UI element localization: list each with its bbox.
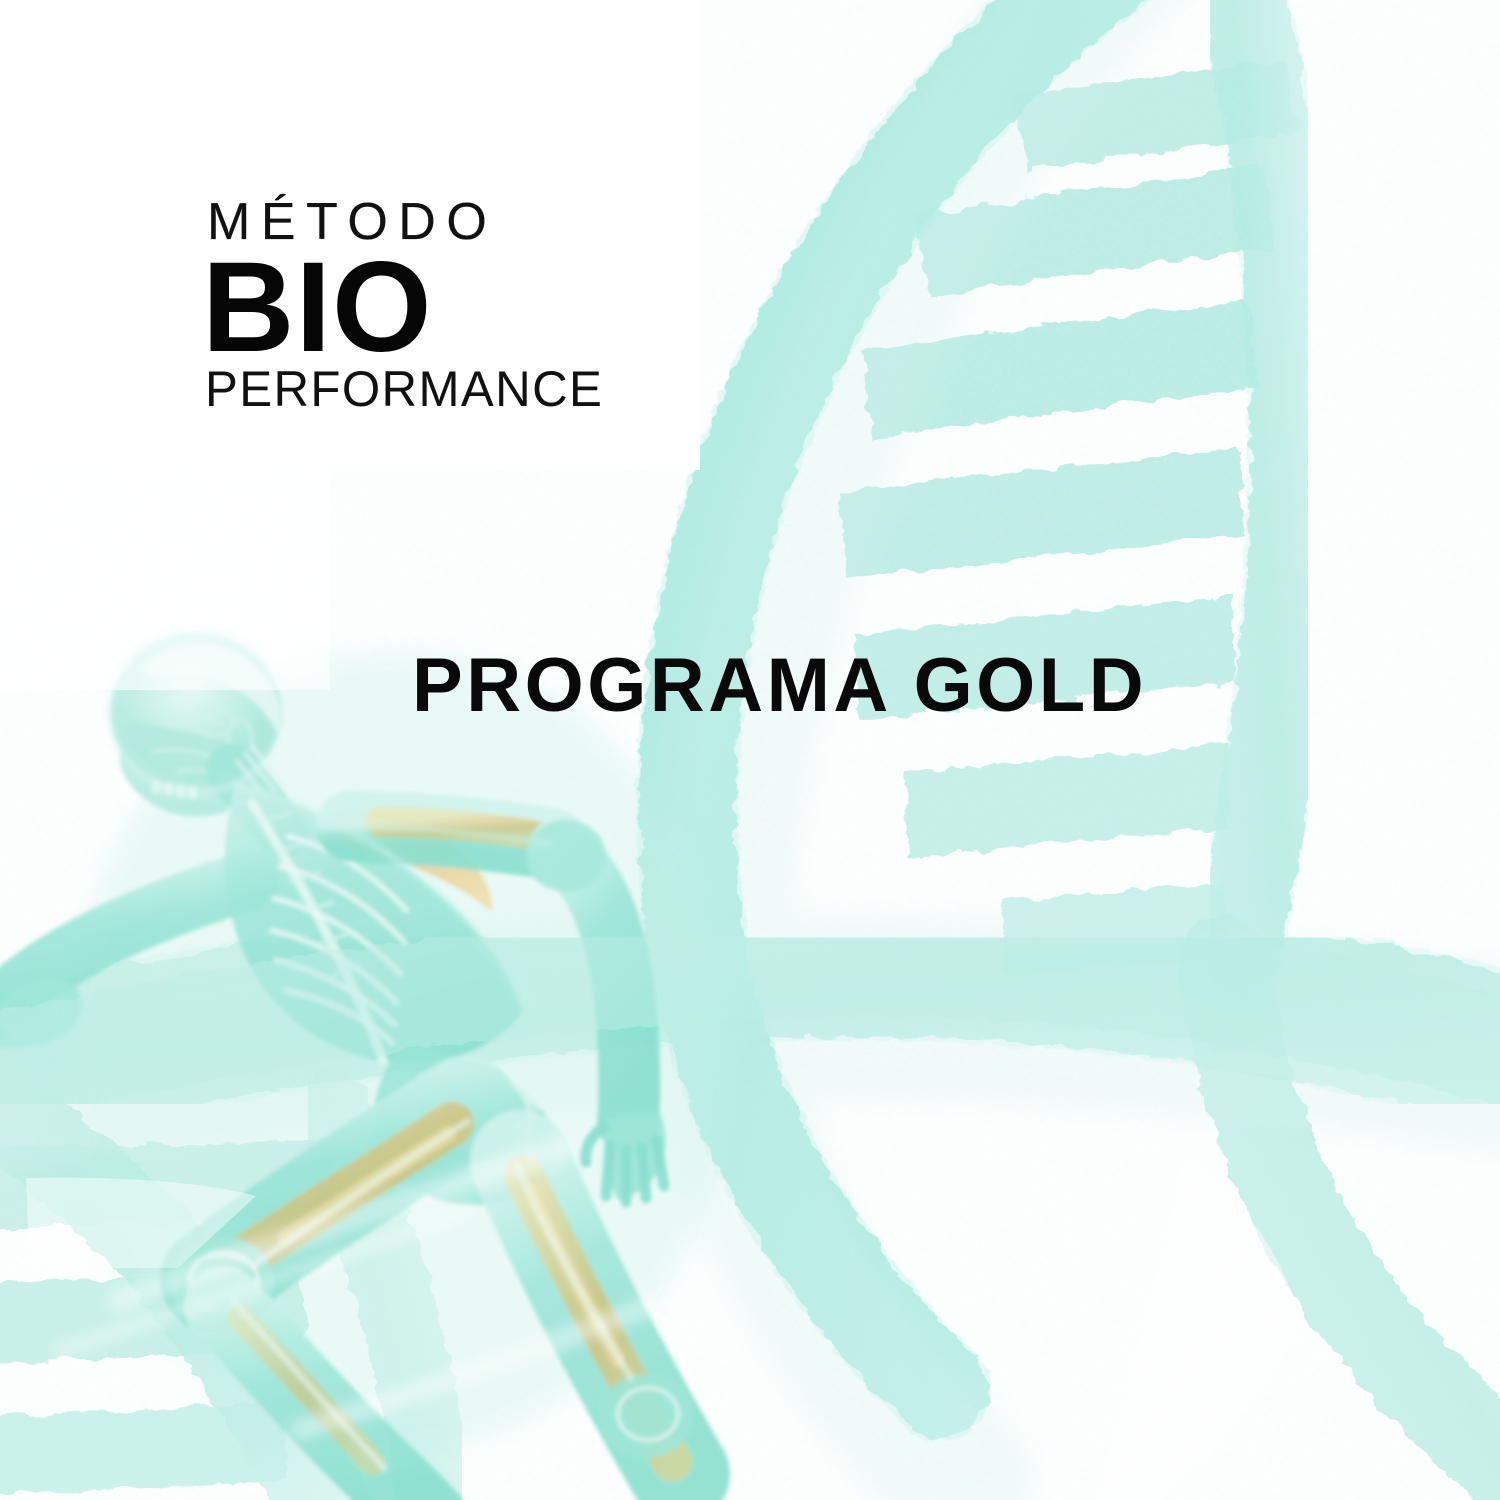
poster-canvas: MÉTODO BIO PERFORMANCE PROGRAMA GOLD [0,0,1500,1500]
logo-line-performance: PERFORMANCE [205,364,603,414]
logo-line-bio: BIO [202,254,609,362]
headline-programa-gold: PROGRAMA GOLD [412,648,1147,724]
brand-logo: MÉTODO BIO PERFORMANCE [205,196,609,414]
